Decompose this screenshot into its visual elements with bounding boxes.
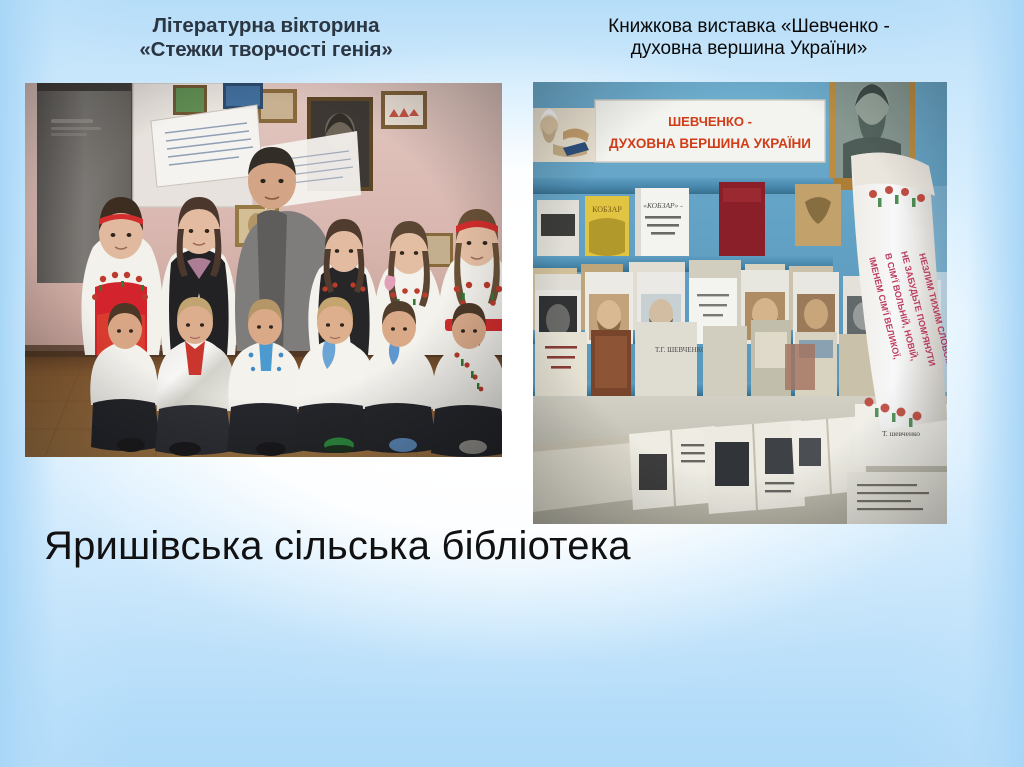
heading-right-book-exhibition: Книжкова виставка «Шевченко - духовна ве… [524, 16, 974, 60]
photo-book-exhibition: ШЕВЧЕНКО - ДУХОВНА ВЕРШИНА УКРАЇНИ [533, 82, 947, 524]
slide-canvas: Літературна вікторина «Стежки творчості … [0, 0, 1024, 767]
photo-book-exhibition-illustration: ШЕВЧЕНКО - ДУХОВНА ВЕРШИНА УКРАЇНИ [533, 82, 947, 524]
photo-classroom-group [25, 83, 502, 457]
page-title-library-name: Яришівська сільська бібліотека [44, 524, 944, 569]
heading-left-literary-quiz: Літературна вікторина «Стежки творчості … [36, 14, 496, 62]
photo-classroom-group-illustration [25, 83, 502, 457]
